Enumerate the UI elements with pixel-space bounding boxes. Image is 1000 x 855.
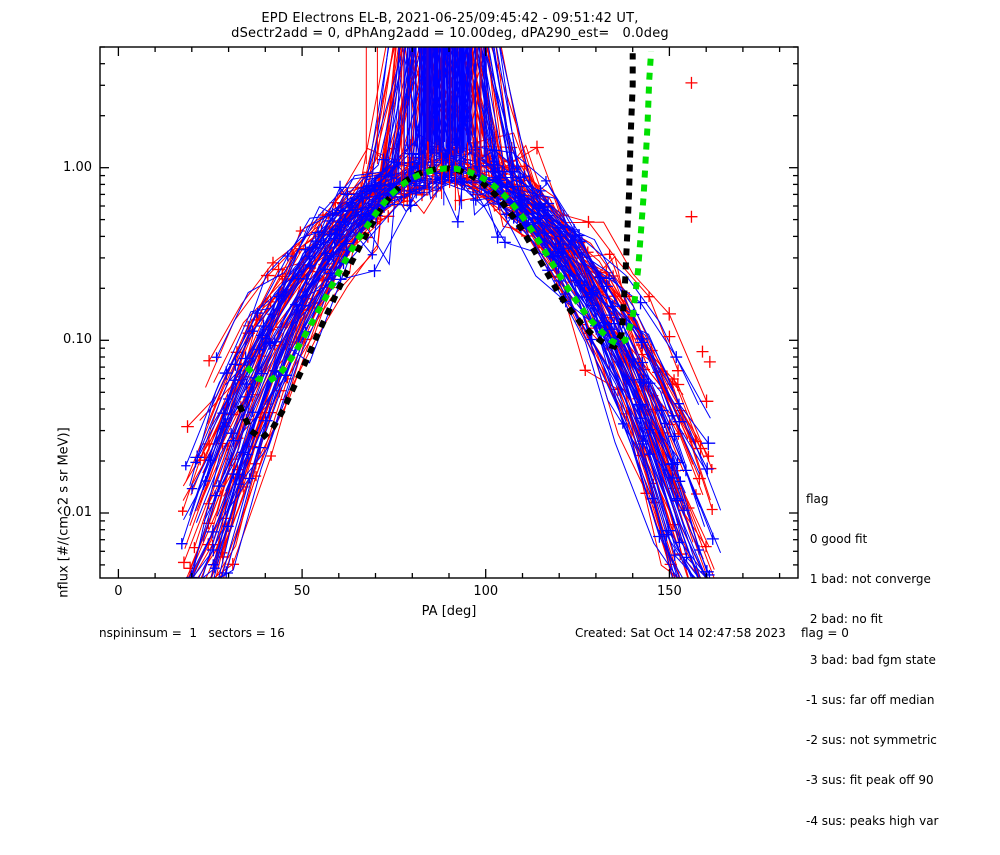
y-axis-title-wrap: nflux [#/(cm^2 s sr MeV)] — [22, 205, 46, 445]
data-marker-plus — [530, 141, 544, 155]
data-marker-plus — [582, 216, 594, 228]
data-marker-plus — [433, 12, 447, 26]
data-marker-plus — [473, 0, 485, 4]
legend-item-0: 0 good fit — [806, 533, 938, 546]
data-marker-plus — [392, 11, 406, 25]
data-marker-plus — [696, 587, 706, 597]
y-tick-label: 1.00 — [54, 160, 92, 175]
data-marker-plus — [411, 31, 424, 44]
data-marker-plus — [398, 11, 407, 20]
data-marker-plus — [707, 504, 718, 515]
data-traces — [176, 0, 720, 599]
data-marker-plus — [200, 585, 213, 598]
legend-item-7: -4 sus: peaks high var — [806, 815, 938, 828]
data-marker-plus — [453, 0, 466, 13]
x-tick-label: 100 — [472, 584, 500, 599]
data-marker-plus — [333, 181, 346, 194]
data-marker-plus — [416, 188, 429, 201]
legend-item-1: 1 bad: not converge — [806, 573, 938, 586]
data-marker-plus — [696, 346, 708, 358]
spin-sweep-trace — [184, 171, 675, 520]
data-marker-plus — [696, 585, 710, 599]
data-marker-plus — [686, 586, 698, 598]
data-marker-plus — [691, 585, 704, 598]
data-marker-plus — [212, 583, 225, 596]
x-tick-label: 0 — [104, 584, 132, 599]
data-marker-plus — [176, 538, 187, 549]
flag-legend: flag 0 good fit 1 bad: not converge 2 ba… — [806, 466, 938, 855]
spin-sweep-trace — [190, 147, 700, 515]
data-marker-plus — [191, 586, 201, 596]
legend-item-5: -2 sus: not symmetric — [806, 734, 938, 747]
data-marker-plus — [702, 587, 712, 597]
y-tick-label: 0.01 — [54, 505, 92, 520]
data-marker-plus — [474, 20, 484, 30]
x-axis-title: PA [deg] — [0, 604, 898, 619]
data-marker-plus — [580, 365, 591, 376]
y-tick-label: 0.10 — [54, 332, 92, 347]
legend-item-6: -3 sus: fit peak off 90 — [806, 774, 938, 787]
legend-item-4: -1 sus: far off median — [806, 694, 938, 707]
plot-page: EPD Electrons EL-B, 2021-06-25/09:45:42 … — [0, 0, 1000, 650]
data-marker-plus — [464, 16, 478, 30]
data-marker-plus — [187, 587, 196, 596]
data-marker-plus — [700, 394, 714, 408]
data-marker-plus — [178, 556, 190, 568]
data-marker-plus — [181, 461, 190, 470]
data-marker-plus — [193, 587, 203, 597]
legend-item-2: 2 bad: no fit — [806, 613, 938, 626]
data-marker-plus — [447, 19, 458, 30]
data-marker-plus — [704, 356, 716, 368]
data-marker-plus — [418, 35, 429, 46]
data-marker-plus — [401, 30, 415, 44]
data-marker-plus — [452, 15, 463, 26]
data-marker-plus — [705, 586, 716, 597]
data-marker-plus — [181, 577, 194, 590]
data-marker-plus — [205, 586, 216, 597]
data-marker-plus — [452, 216, 464, 228]
data-marker-plus — [368, 264, 381, 277]
data-marker-plus — [177, 587, 187, 597]
data-marker-plus — [699, 585, 711, 597]
data-marker-plus — [703, 451, 714, 462]
data-marker-plus — [425, 0, 435, 7]
data-marker-plus — [695, 585, 708, 598]
data-marker-plus — [187, 483, 197, 493]
data-marker-plus — [461, 1, 473, 13]
legend-item-3: 3 bad: bad fgm state — [806, 654, 938, 667]
data-marker-plus — [422, 14, 434, 26]
legend-header: flag — [806, 493, 938, 506]
data-marker-plus — [180, 586, 192, 598]
data-marker-plus — [454, 7, 467, 20]
data-marker-plus — [266, 451, 276, 461]
footer-left-status: nspininsum = 1 sectors = 16 — [99, 626, 285, 640]
data-marker-plus — [685, 77, 697, 89]
data-marker-plus — [703, 585, 716, 598]
x-tick-label: 150 — [655, 584, 683, 599]
footer-right-status: Created: Sat Oct 14 02:47:58 2023 flag =… — [575, 626, 849, 640]
data-marker-plus — [685, 211, 697, 223]
x-tick-label: 50 — [288, 584, 316, 599]
data-marker-plus — [499, 237, 511, 249]
data-marker-plus — [440, 0, 454, 4]
